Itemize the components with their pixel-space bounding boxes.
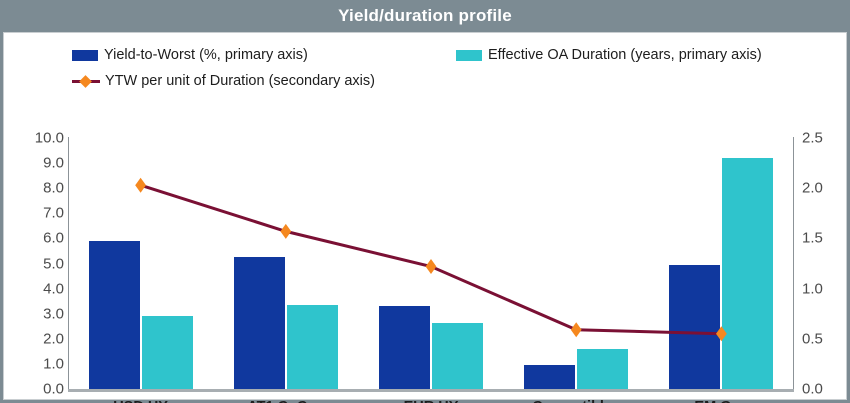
legend-label-yield-to-worst: Yield-to-Worst (%, primary axis) — [104, 47, 308, 63]
y-axis-left-tick: 0.0 — [12, 381, 64, 398]
bar-group — [524, 106, 628, 389]
legend-label-ytw-per-unit-duration: YTW per unit of Duration (secondary axis… — [105, 73, 375, 89]
legend-diamond-marker-icon — [79, 75, 92, 88]
x-axis: USD HYAT1 CoCosEUR HYConvertiblesEM Gov — [68, 395, 794, 403]
bar[interactable] — [722, 158, 773, 389]
y-axis-right: 0.00.51.01.52.02.5 — [794, 129, 842, 391]
y-axis-left-tick: 1.0 — [12, 355, 64, 372]
bar[interactable] — [142, 316, 193, 389]
bar[interactable] — [669, 265, 720, 389]
bar[interactable] — [89, 241, 140, 389]
page-title: Yield/duration profile — [338, 6, 512, 26]
y-axis-left-tick: 3.0 — [12, 305, 64, 322]
x-axis-tick-label: USD HY — [113, 399, 168, 403]
bar-group — [89, 106, 193, 389]
y-axis-left: 0.01.02.03.04.05.06.07.08.09.010.0 — [12, 129, 64, 391]
y-axis-left-tick: 7.0 — [12, 205, 64, 222]
y-axis-left-tick: 10.0 — [12, 130, 64, 147]
y-axis-right-tick: 0.0 — [794, 381, 842, 398]
x-axis-tick-label: EUR HY — [404, 399, 459, 403]
y-axis-left-tick: 2.0 — [12, 330, 64, 347]
y-axis-right-tick: 2.5 — [794, 130, 842, 147]
legend-swatch-icon-effective-oa-duration — [456, 50, 482, 61]
bar-group — [234, 106, 338, 389]
x-axis-tick-label: Convertibles — [532, 399, 620, 403]
x-axis-tick-label: AT1 CoCos — [247, 399, 324, 403]
x-axis-tick-label: EM Gov — [694, 399, 748, 403]
axis-line-bottom — [68, 389, 794, 392]
y-axis-right-tick: 2.0 — [794, 180, 842, 197]
bar-group — [379, 106, 483, 389]
chart-title-bar: Yield/duration profile — [0, 0, 850, 32]
bar[interactable] — [379, 306, 430, 389]
plot-panel: Yield-to-Worst (%, primary axis) Effecti… — [3, 32, 847, 400]
y-axis-right-tick: 1.0 — [794, 280, 842, 297]
legend-item-yield-to-worst[interactable]: Yield-to-Worst (%, primary axis) — [72, 47, 308, 63]
plot-area — [68, 106, 794, 389]
bar[interactable] — [577, 349, 628, 389]
bar[interactable] — [432, 323, 483, 390]
bar[interactable] — [234, 257, 285, 389]
y-axis-left-tick: 6.0 — [12, 230, 64, 247]
legend-item-effective-oa-duration[interactable]: Effective OA Duration (years, primary ax… — [456, 47, 762, 63]
y-axis-right-tick: 0.5 — [794, 330, 842, 347]
bar-group — [669, 106, 773, 389]
y-axis-right-tick: 1.5 — [794, 230, 842, 247]
bar[interactable] — [524, 365, 575, 389]
y-axis-left-tick: 8.0 — [12, 180, 64, 197]
legend-swatch-icon-yield-to-worst — [72, 50, 98, 61]
y-axis-left-tick: 9.0 — [12, 155, 64, 172]
legend-item-ytw-per-unit-duration[interactable]: YTW per unit of Duration (secondary axis… — [72, 73, 375, 89]
legend-line-diamond-icon — [72, 75, 100, 87]
y-axis-left-tick: 4.0 — [12, 280, 64, 297]
bar[interactable] — [287, 305, 338, 389]
chart-legend: Yield-to-Worst (%, primary axis) Effecti… — [4, 47, 848, 99]
y-axis-left-tick: 5.0 — [12, 255, 64, 272]
chart-card: Yield/duration profile Yield-to-Worst (%… — [0, 0, 850, 403]
legend-label-effective-oa-duration: Effective OA Duration (years, primary ax… — [488, 47, 762, 63]
